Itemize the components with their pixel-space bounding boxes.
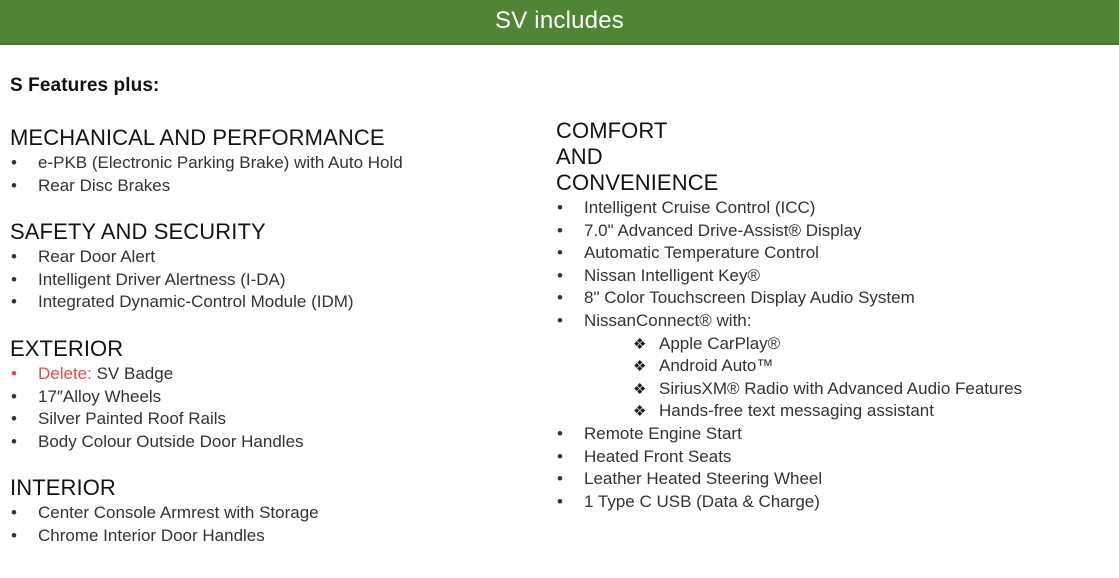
list-item-label: SV Badge [92,364,173,383]
list-item: • Center Console Armrest with Storage [10,502,548,525]
list-item: • Nissan Intelligent Key® [556,265,584,288]
bullet-icon: • [557,446,571,469]
bullet-icon: • [557,265,571,288]
list-item-label: Intelligent Cruise Control (ICC) [584,198,815,217]
list-item: • Intelligent Cruise Control (ICC) [556,197,584,220]
feature-list: • e-PKB (Electronic Parking Brake) with … [10,152,548,197]
list-item: • Rear Disc Brakes [10,175,548,198]
sub-list-item-label: Hands-free text messaging assistant [659,401,934,420]
diamond-bullet-icon: ❖ [633,355,646,378]
list-item: • 17″Alloy Wheels [10,386,548,409]
list-item: • e-PKB (Electronic Parking Brake) with … [10,152,548,175]
bullet-icon: • [11,408,25,431]
list-item: • Automatic Temperature Control [556,242,584,265]
list-item: • NissanConnect® with: [556,310,584,333]
bullet-icon: • [557,287,571,310]
list-item-label: NissanConnect® with: [584,311,752,330]
list-item: • Leather Heated Steering Wheel [556,468,584,491]
section-heading: COMFORT AND CONVENIENCE [556,118,571,196]
feature-list-continued: • Remote Engine Start • Heated Front Sea… [556,423,571,513]
sub-list-item: ❖ SiriusXM® Radio with Advanced Audio Fe… [556,378,659,401]
list-item-label: 7.0" Advanced Drive-Assist® Display [584,221,861,240]
bullet-icon: • [557,491,571,514]
nissanconnect-sub-list: ❖ Apple CarPlay® ❖ Android Auto™ ❖ Siriu… [556,333,571,423]
feature-list: • Delete: SV Badge • 17″Alloy Wheels • S… [10,363,548,453]
bullet-icon: • [11,246,25,269]
sub-list-item: ❖ Apple CarPlay® [556,333,659,356]
bullet-icon: • [557,310,571,333]
bullet-icon: • [557,197,571,220]
list-item-label: Center Console Armrest with Storage [38,503,319,522]
sub-list-item: ❖ Android Auto™ [556,355,659,378]
list-item: • Silver Painted Roof Rails [10,408,548,431]
diamond-bullet-icon: ❖ [633,333,646,356]
list-item-label: 17″Alloy Wheels [38,387,161,406]
list-item-label: Body Colour Outside Door Handles [38,432,304,451]
section-comfort-and-convenience: COMFORT AND CONVENIENCE • Intelligent Cr… [556,118,571,513]
list-item: • Remote Engine Start [556,423,584,446]
bullet-icon: • [11,269,25,292]
list-item: • Heated Front Seats [556,446,584,469]
list-item-label: Nissan Intelligent Key® [584,266,760,285]
list-item-label: e-PKB (Electronic Parking Brake) with Au… [38,153,403,172]
list-item-label: 1 Type C USB (Data & Charge) [584,492,820,511]
sub-list-item: ❖ Hands-free text messaging assistant [556,400,659,423]
list-item-label: Heated Front Seats [584,447,731,466]
bullet-icon: • [11,363,25,386]
list-item: • Integrated Dynamic-Control Module (IDM… [10,291,548,314]
feature-list: • Center Console Armrest with Storage • … [10,502,548,547]
list-item-label: Remote Engine Start [584,424,742,443]
bullet-icon: • [557,220,571,243]
bullet-icon: • [557,468,571,491]
delete-label: Delete: [38,364,92,383]
bullet-icon: • [557,242,571,265]
sub-list-item-label: Apple CarPlay® [659,334,780,353]
feature-list: • Rear Door Alert • Intelligent Driver A… [10,246,548,314]
feature-list: • Intelligent Cruise Control (ICC) • 7.0… [556,197,571,333]
list-item-label: Automatic Temperature Control [584,243,819,262]
list-item: • 1 Type C USB (Data & Charge) [556,491,584,514]
diamond-bullet-icon: ❖ [633,400,646,423]
sub-list-item-label: Android Auto™ [659,356,773,375]
bullet-icon: • [557,423,571,446]
list-item-label: Chrome Interior Door Handles [38,526,265,545]
bullet-icon: • [11,431,25,454]
page-title: SV includes [495,9,624,33]
bullet-icon: • [11,152,25,175]
list-item-label: Silver Painted Roof Rails [38,409,226,428]
bullet-icon: • [11,291,25,314]
bullet-icon: • [11,175,25,198]
feature-columns: MECHANICAL AND PERFORMANCE • e-PKB (Elec… [0,45,1119,548]
list-item-delete: • Delete: SV Badge [10,363,548,386]
list-item-label: Integrated Dynamic-Control Module (IDM) [38,292,354,311]
list-item: • 8" Color Touchscreen Display Audio Sys… [556,287,584,310]
list-item: • Intelligent Driver Alertness (I-DA) [10,269,548,292]
list-item: • Chrome Interior Door Handles [10,525,548,548]
list-item-label: 8" Color Touchscreen Display Audio Syste… [584,288,915,307]
list-item: • 7.0" Advanced Drive-Assist® Display [556,220,584,243]
content-sheet: S Features plus: MECHANICAL AND PERFORMA… [0,45,1119,578]
list-item: • Body Colour Outside Door Handles [10,431,548,454]
bullet-icon: • [11,386,25,409]
page-header-band: SV includes [0,0,1119,45]
list-item-label: Intelligent Driver Alertness (I-DA) [38,270,286,289]
bullet-icon: • [11,525,25,548]
list-item-label: Rear Disc Brakes [38,176,170,195]
bullet-icon: • [11,502,25,525]
list-item-label: Leather Heated Steering Wheel [584,469,822,488]
sub-list-item-label: SiriusXM® Radio with Advanced Audio Feat… [659,379,1022,398]
diamond-bullet-icon: ❖ [633,378,646,401]
list-item-label: Rear Door Alert [38,247,155,266]
list-item: • Rear Door Alert [10,246,548,269]
